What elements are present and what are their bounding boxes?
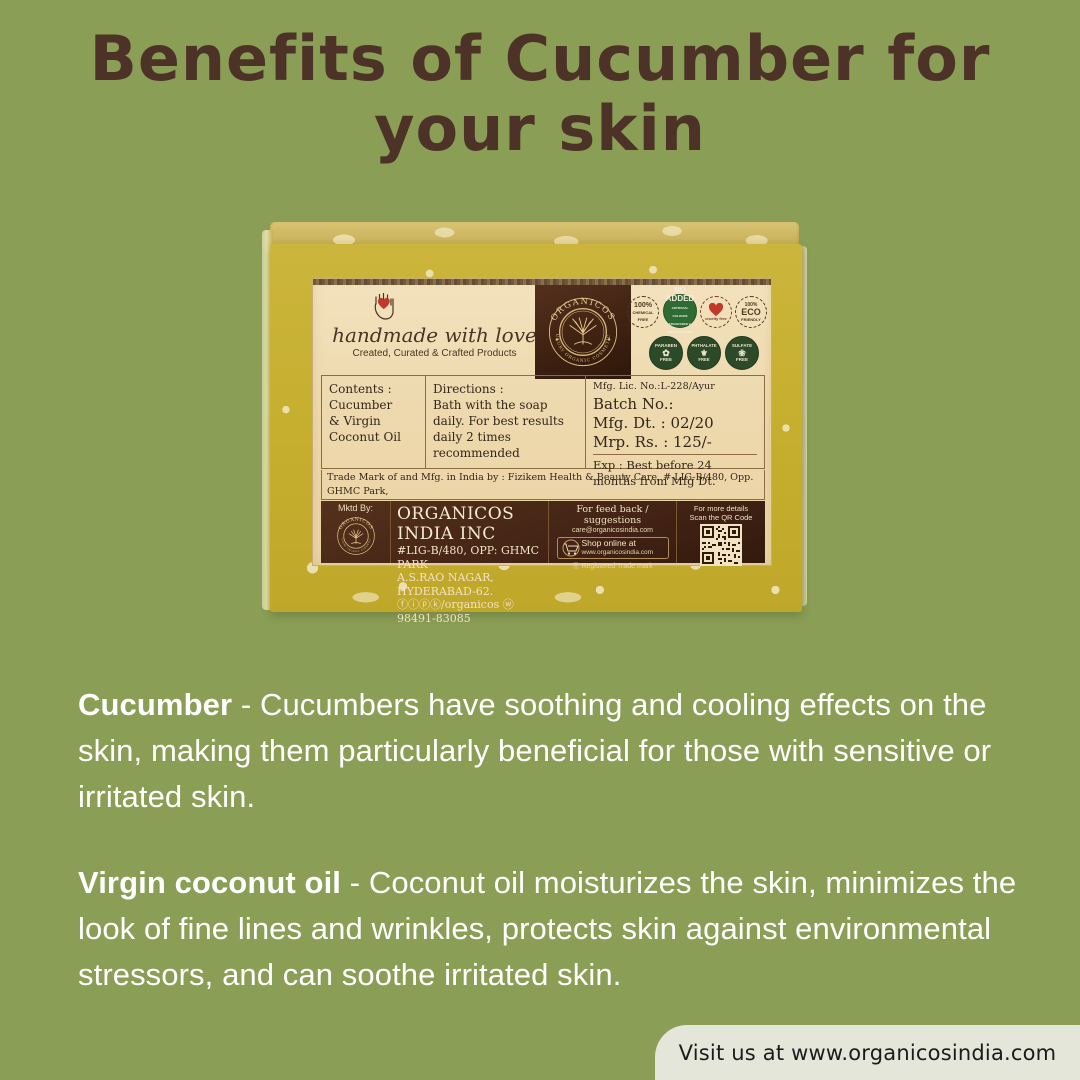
qr-code-icon	[700, 524, 742, 566]
table-cell-contents: Contents : Cucumber & Virgin Coconut Oil	[322, 376, 426, 468]
seal-paraben-free: PARABEN✿FREE	[649, 336, 683, 370]
registered-trademark-note: Ⓡ Registered Trade mark	[553, 561, 672, 571]
seal-cruelty-free-heart: cruelty free	[700, 296, 732, 328]
certification-seals: 100%CHEMICAL FREE NOADDEDARTIFICIAL COLO…	[627, 292, 767, 374]
benefit-lead-cucumber: Cucumber	[78, 687, 232, 722]
product-package-image: handmade with love Created, Curated & Cr…	[262, 222, 807, 618]
page-title-line-1: Benefits of Cucumber for	[0, 24, 1080, 94]
qr-block: For more details Scan the QR Code	[677, 501, 765, 563]
label-header: handmade with love Created, Curated & Cr…	[313, 286, 771, 372]
qr-heading-line-2: Scan the QR Code	[679, 513, 763, 522]
organicos-seal-icon: ORGANICOS LUXURY ORGANIC COSMETICS	[333, 513, 379, 559]
contents-list: Cucumber & Virgin Coconut Oil	[329, 397, 418, 445]
shop-online-label: Shop online at	[582, 539, 654, 549]
mrp-price: Mrp. Rs. : 125/-	[593, 433, 757, 452]
mfg-licence-no: Mfg. Lic. No.:L-228/Ayur	[593, 379, 757, 395]
seal-eco-friendly: 100%ECOFRIENDLY	[735, 296, 767, 328]
marketed-by-label: Mktd By:	[321, 503, 390, 513]
directions-heading: Directions :	[433, 381, 578, 397]
brand-logo-plate: ORGANICOS LUXURY ORGANIC COSMETICS	[535, 285, 631, 379]
batch-no: Batch No.:	[593, 395, 757, 414]
organicos-logo: ORGANICOS LUXURY ORGANIC COSMETICS	[541, 290, 625, 374]
trademark-line-1: Trade Mark of and Mfg. in India by : Fiz…	[327, 471, 759, 499]
feedback-email: care@organicosindia.com	[553, 527, 672, 534]
trademark-strip: Trade Mark of and Mfg. in India by : Fiz…	[321, 470, 765, 500]
table-cell-batch-details: Mfg. Lic. No.:L-228/Ayur Batch No.: Mfg.…	[586, 376, 764, 468]
qr-heading-line-1: For more details	[679, 504, 763, 513]
company-name: ORGANICOS INDIA INC	[397, 504, 542, 544]
seal-chemical-free: 100%CHEMICAL FREE	[627, 296, 659, 328]
page-title-line-2: your skin	[0, 94, 1080, 164]
package-front-face: handmade with love Created, Curated & Cr…	[270, 244, 802, 612]
company-address-block: ORGANICOS INDIA INC #LIG-B/480, OPP: GHM…	[391, 501, 549, 563]
visit-us-text: Visit us at www.organicosindia.com	[679, 1041, 1057, 1065]
hand-heart-icon	[369, 288, 399, 322]
label-tagline-sub: Created, Curated & Crafted Products	[327, 348, 542, 359]
company-address-line-1: #LIG-B/480, OPP: GHMC PARK	[397, 544, 542, 571]
seal-no-added: NOADDEDARTIFICIAL COLOURS FRAGRANCE & PR…	[663, 294, 697, 328]
table-cell-directions: Directions : Bath with the soap daily. F…	[426, 376, 586, 468]
label-tagline-script: handmade with love	[327, 323, 542, 347]
social-handles-line: ⓕⓘⓟⓚ/organicos ⓦ 98491-83085	[397, 598, 542, 625]
feedback-block: For feed back / suggestions care@organic…	[549, 501, 677, 563]
visit-us-footer[interactable]: Visit us at www.organicosindia.com	[655, 1025, 1080, 1080]
package-label-panel: handmade with love Created, Curated & Cr…	[312, 278, 772, 566]
contents-heading: Contents :	[329, 381, 418, 397]
directions-list: Bath with the soap daily. For best resul…	[433, 397, 578, 461]
seal-phthalate-free: PHTHALATE⚜FREE	[687, 336, 721, 370]
benefit-paragraph-coconut-oil: Virgin coconut oil - Coconut oil moistur…	[78, 860, 1018, 998]
shopping-cart-icon	[560, 539, 582, 557]
mfg-date: Mfg. Dt. : 02/20	[593, 414, 757, 433]
benefit-lead-coconut-oil: Virgin coconut oil	[78, 865, 341, 900]
marketed-by-block: Mktd By:	[321, 501, 391, 563]
marketer-band: Mktd By:	[321, 501, 765, 563]
shop-online-url: www.organicosindia.com	[582, 549, 654, 557]
feedback-heading: For feed back / suggestions	[553, 504, 672, 526]
benefit-paragraph-cucumber: Cucumber - Cucumbers have soothing and c…	[78, 682, 1018, 820]
seal-sulfate-free: SULFATE❀FREE	[725, 336, 759, 370]
page-title: Benefits of Cucumber for your skin	[0, 24, 1080, 164]
label-info-table: Contents : Cucumber & Virgin Coconut Oil…	[321, 375, 765, 469]
shop-online-box: Shop online at www.organicosindia.com	[557, 537, 669, 559]
company-address-line-2: A.S.RAO NAGAR, HYDERABAD-62.	[397, 571, 542, 598]
